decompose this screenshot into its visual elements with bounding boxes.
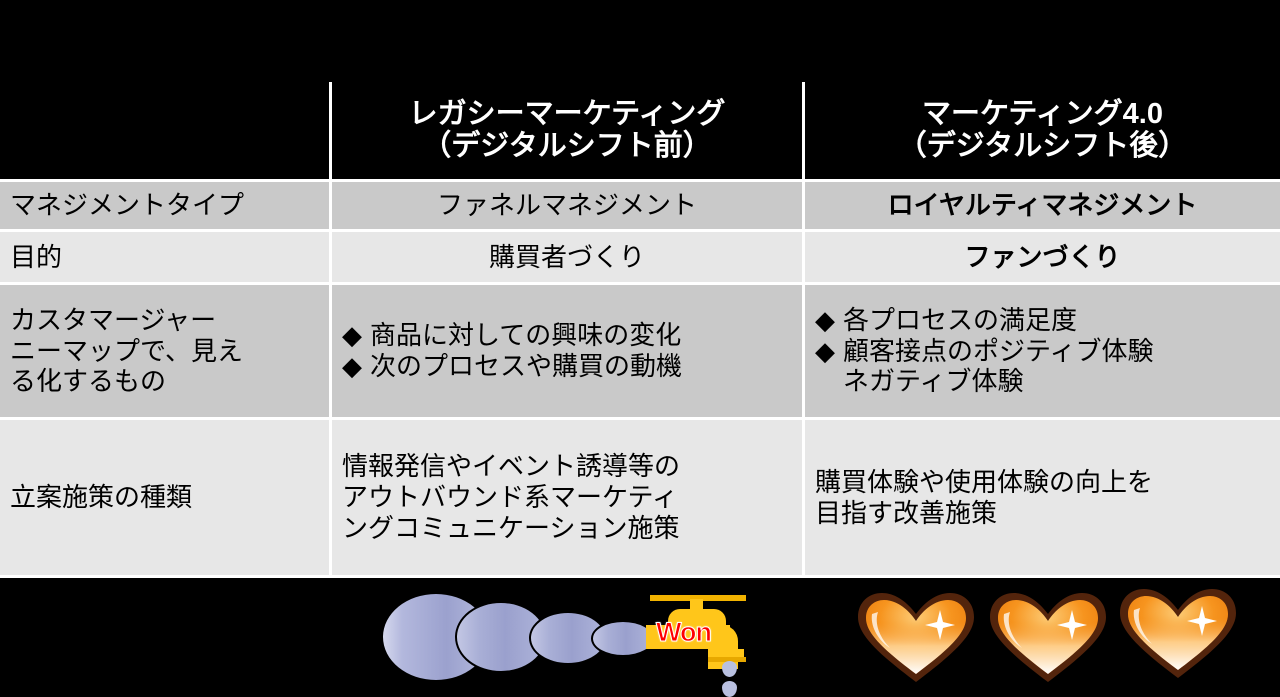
row4-m40-line2: 目指す改善施策: [815, 498, 1270, 529]
water-drop-icon: [722, 661, 737, 677]
row4-marketing40: 購買体験や使用体験の向上を 目指す改善施策: [805, 420, 1280, 578]
row3-label-line3: る化するもの: [10, 366, 319, 397]
header-legacy-line2: （デジタルシフト前）: [342, 131, 792, 163]
row1-marketing40: ロイヤルティマネジメント: [805, 182, 1280, 232]
row3-label-line2: ニーマップで、見え: [10, 336, 319, 367]
heart-icon: [1116, 586, 1240, 681]
header-cell-legacy: レガシーマーケティング （デジタルシフト前）: [332, 82, 805, 182]
row3-legacy-bullet-2-text: 次のプロセスや購買の動機: [370, 351, 682, 381]
heart-icon: [854, 590, 978, 685]
row3-legacy-bullet-2: ◆次のプロセスや購買の動機: [342, 351, 792, 382]
faucet-icon: Won: [638, 591, 764, 687]
row3-legacy-bullet-1: ◆商品に対しての興味の変化: [342, 320, 792, 351]
slide-canvas: レガシーマーケティング （デジタルシフト前） マーケティング4.0 （デジタルシ…: [0, 0, 1280, 687]
funnel-telescope-icon: [381, 592, 681, 682]
diamond-bullet-icon: ◆: [815, 336, 843, 367]
bottom-artwork: Won: [0, 580, 1280, 687]
header-marketing40-line2: （デジタルシフト後）: [815, 131, 1270, 163]
table-row: 目的 購買者づくり ファンづくり: [0, 232, 1280, 285]
row3-legacy-bullet-1-text: 商品に対しての興味の変化: [370, 320, 681, 350]
row3-label: カスタマージャー ニーマップで、見え る化するもの: [0, 285, 332, 420]
row3-m40-bullet-1: ◆各プロセスの満足度: [815, 305, 1270, 336]
hearts-group: [854, 586, 1274, 686]
row3-marketing40: ◆各プロセスの満足度 ◆顧客接点のポジティブ体験 ネガティブ体験: [805, 285, 1280, 420]
won-label: Won: [656, 617, 711, 648]
table-row: 立案施策の種類 情報発信やイベント誘導等の アウトバウンド系マーケティ ングコミ…: [0, 420, 1280, 578]
header-cell-blank: [0, 82, 332, 182]
row2-legacy: 購買者づくり: [332, 232, 805, 285]
faucet-spout: [710, 649, 744, 657]
row3-m40-continuation: ネガティブ体験: [815, 366, 1270, 397]
row3-label-line1: カスタマージャー: [10, 305, 319, 336]
header-legacy-line1: レガシーマーケティング: [342, 99, 792, 131]
comparison-table: レガシーマーケティング （デジタルシフト前） マーケティング4.0 （デジタルシ…: [0, 82, 1280, 578]
row4-legacy: 情報発信やイベント誘導等の アウトバウンド系マーケティ ングコミュニケーション施…: [332, 420, 805, 578]
heart-icon: [986, 590, 1110, 685]
row4-m40-line1: 購買体験や使用体験の向上を: [815, 467, 1270, 498]
table-row: カスタマージャー ニーマップで、見え る化するもの ◆商品に対しての興味の変化 …: [0, 285, 1280, 420]
row4-legacy-line3: ングコミュニケーション施策: [342, 513, 792, 544]
row4-legacy-line2: アウトバウンド系マーケティ: [342, 482, 792, 513]
row3-m40-bullet-1-text: 各プロセスの満足度: [843, 305, 1077, 335]
diamond-bullet-icon: ◆: [342, 351, 370, 382]
row3-legacy: ◆商品に対しての興味の変化 ◆次のプロセスや購買の動機: [332, 285, 805, 420]
header-marketing40-line1: マーケティング4.0: [815, 99, 1270, 131]
header-cell-marketing40: マーケティング4.0 （デジタルシフト後）: [805, 82, 1280, 182]
row1-label: マネジメントタイプ: [0, 182, 332, 232]
table-header-row: レガシーマーケティング （デジタルシフト前） マーケティング4.0 （デジタルシ…: [0, 82, 1280, 182]
row2-label: 目的: [0, 232, 332, 285]
row4-legacy-line1: 情報発信やイベント誘導等の: [342, 451, 792, 482]
top-black-band: [0, 0, 1280, 82]
diamond-bullet-icon: ◆: [815, 305, 843, 336]
diamond-bullet-icon: ◆: [342, 320, 370, 351]
table-row: マネジメントタイプ ファネルマネジメント ロイヤルティマネジメント: [0, 182, 1280, 232]
row3-m40-bullet-2-text: 顧客接点のポジティブ体験: [843, 336, 1153, 366]
row4-label: 立案施策の種類: [0, 420, 332, 578]
water-drop-icon: [722, 681, 737, 697]
row1-legacy: ファネルマネジメント: [332, 182, 805, 232]
row2-marketing40: ファンづくり: [805, 232, 1280, 285]
row3-m40-bullet-2: ◆顧客接点のポジティブ体験: [815, 336, 1270, 367]
